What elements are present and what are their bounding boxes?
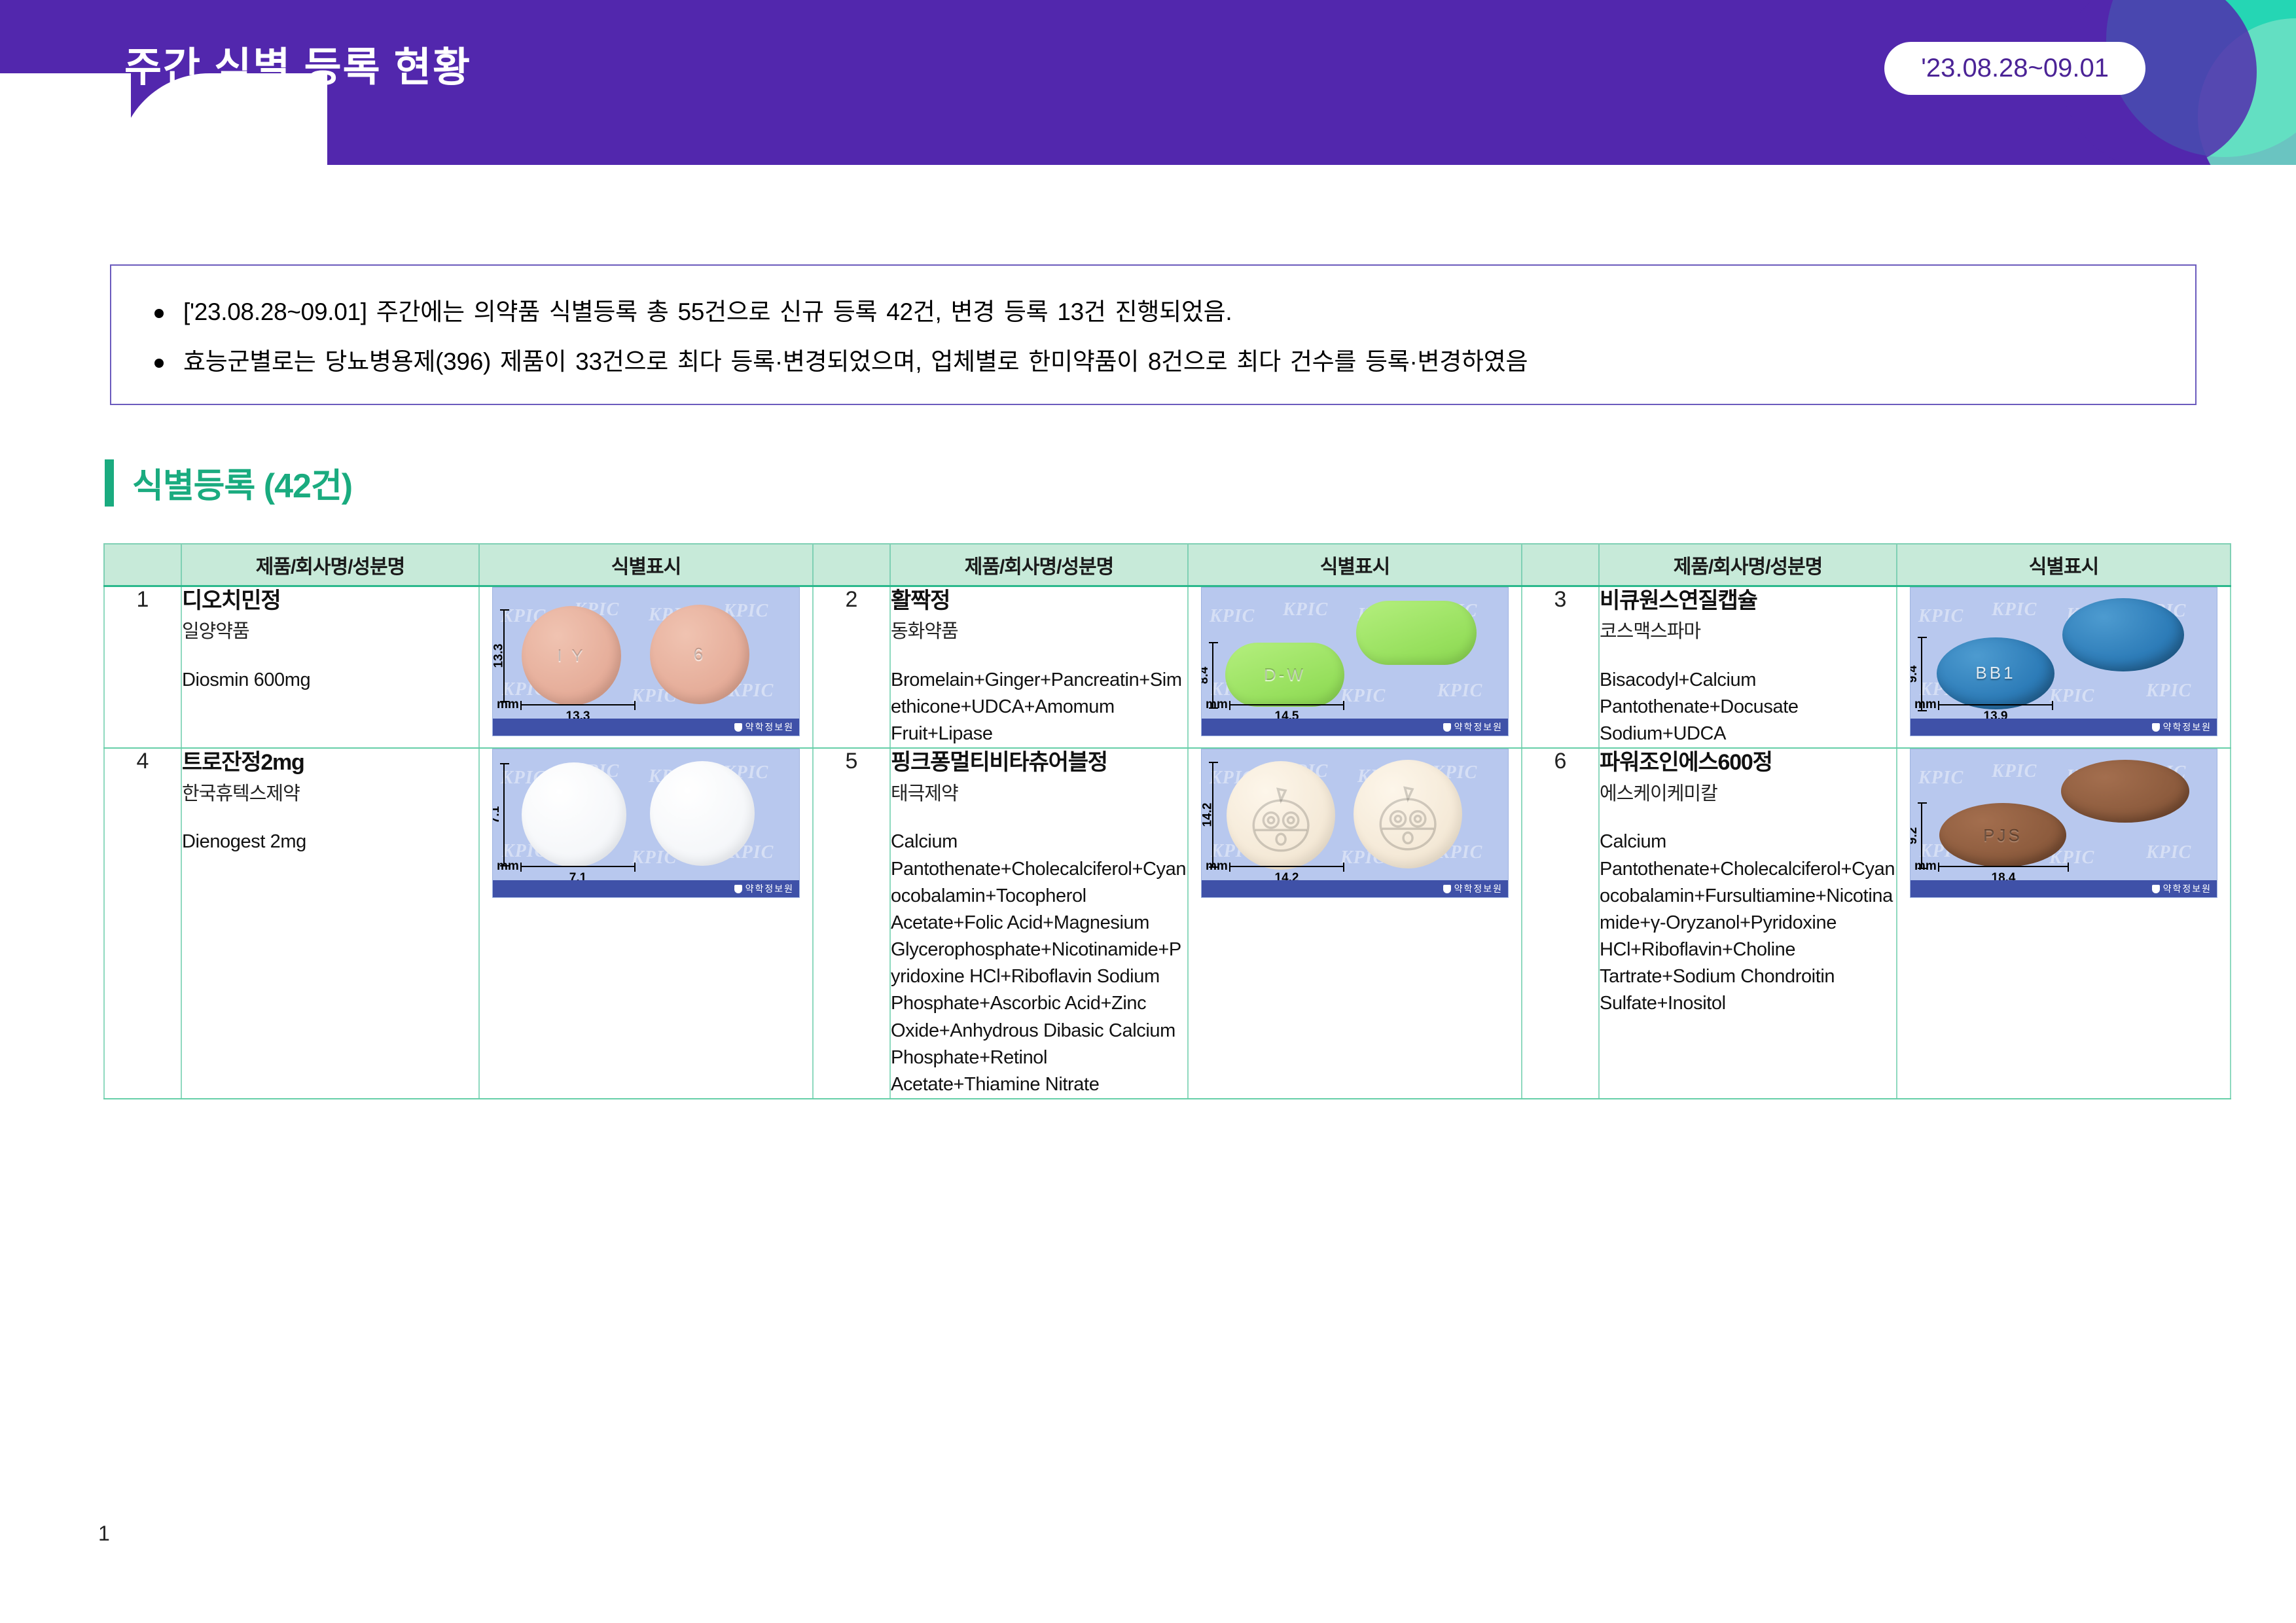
product-name: 디오치민정 <box>182 587 478 615</box>
section-accent-bar <box>105 459 114 507</box>
dimension-width: 18.4 <box>1938 866 2069 867</box>
pill-back <box>2061 760 2189 823</box>
watermark-text: KPIC <box>1992 599 2037 620</box>
table-header-row: 제품/회사명/성분명 식별표시 제품/회사명/성분명 식별표시 제품/회사명/성… <box>104 544 2231 586</box>
photo-source-footer: 약학정보원 <box>1202 880 1508 897</box>
pill-photo: KPIC KPIC KPIC KPIC KPIC KPIC KPIC BB1 <box>1910 587 2217 736</box>
pill-back: 6 <box>650 605 749 704</box>
pill-imprint: I Y <box>557 645 585 666</box>
pill-imprint: PJS <box>1983 825 2022 846</box>
photo-source-footer: 약학정보원 <box>1910 880 2217 897</box>
pill-back <box>2062 598 2184 671</box>
date-range-badge: '23.08.28~09.01 <box>1884 42 2145 95</box>
product-info-cell: 트로잔정2mg 한국휴텍스제약 Dienogest 2mg <box>181 748 479 1099</box>
photo-source: 약학정보원 <box>2163 883 2212 894</box>
row-number: 3 <box>1522 586 1599 748</box>
product-name: 활짝정 <box>891 587 1187 615</box>
summary-bullet-2: 효능군별로는 당뇨병용제(396) 제품이 33건으로 최다 등록·변경되었으며… <box>137 344 2169 380</box>
pill-front: PJS <box>1939 803 2066 867</box>
pill-image-cell: KPIC KPIC KPIC KPIC KPIC KPIC KPIC BB1 <box>1897 586 2231 748</box>
mm-unit-label: mm <box>1914 859 1937 874</box>
product-info-cell: 핑크퐁멀티비타츄어블정 태극제약 Calcium Pantothenate+Ch… <box>890 748 1188 1099</box>
pill-imprint: D-W <box>1264 664 1306 685</box>
company-name: 동화약품 <box>891 620 1187 645</box>
photo-source: 약학정보원 <box>1454 722 1503 732</box>
photo-source: 약학정보원 <box>1454 883 1503 894</box>
page-number: 1 <box>98 1522 110 1546</box>
mm-unit-label: mm <box>1206 698 1228 712</box>
shield-icon <box>1443 723 1451 732</box>
photo-source-footer: 약학정보원 <box>493 880 799 897</box>
pill-front <box>522 762 626 867</box>
dimension-width: 13.9 <box>1938 704 2053 705</box>
watermark-text: KPIC <box>1918 768 1964 789</box>
product-info-cell: 활짝정 동화약품 Bromelain+Ginger+Pancreatin+Sim… <box>890 586 1188 748</box>
watermark-text: KPIC <box>2049 686 2094 707</box>
pill-front: D-W <box>1225 643 1344 707</box>
pill-imprint-back: 6 <box>694 644 706 664</box>
watermark-text: KPIC <box>1210 606 1255 627</box>
photo-source: 약학정보원 <box>745 722 794 732</box>
mm-unit-label: mm <box>497 698 519 712</box>
header-corner-block <box>0 73 131 165</box>
section-title: 식별등록 (42건) <box>132 458 352 507</box>
header-info-1: 제품/회사명/성분명 <box>181 544 479 586</box>
product-name: 핑크퐁멀티비타츄어블정 <box>891 749 1187 777</box>
summary-bullet-text-1: ['23.08.28~09.01] 주간에는 의약품 식별등록 총 55건으로 … <box>183 294 1232 330</box>
watermark-text: KPIC <box>2146 842 2191 863</box>
table-row: 1 디오치민정 일양약품 Diosmin 600mg KPIC KPIC KPI… <box>104 586 2231 748</box>
dimension-width: 14.5 <box>1229 704 1344 705</box>
product-info-cell: 파워조인에스600정 에스케이케미칼 Calcium Pantothenate+… <box>1599 748 1897 1099</box>
header-blank-1 <box>104 544 181 586</box>
pill-imprint: BB1 <box>1975 663 2015 683</box>
photo-source: 약학정보원 <box>745 883 794 894</box>
pill-image-cell: KPIC KPIC KPIC KPIC KPIC KPIC KPIC PJS <box>1897 748 2231 1099</box>
watermark-text: KPIC <box>1437 681 1482 702</box>
ingredient-name: Diosmin 600mg <box>182 667 478 694</box>
photo-source-footer: 약학정보원 <box>493 719 799 736</box>
watermark-text: KPIC <box>1992 761 2037 782</box>
pill-photo: KPIC KPIC KPIC KPIC KPIC KPIC KPIC PJS <box>1910 749 2217 898</box>
section-header: 식별등록 (42건) <box>105 458 352 507</box>
page-header: 주간 식별 등록 현황 '23.08.28~09.01 <box>0 0 2296 165</box>
ingredient-name: Bisacodyl+Calcium Pantothenate+Docusate … <box>1600 667 1896 748</box>
photo-source-footer: 약학정보원 <box>1910 719 2217 736</box>
product-name: 비큐원스연질캡슐 <box>1600 587 1896 615</box>
shield-icon <box>734 885 742 893</box>
dimension-height: 13.3 <box>503 610 505 702</box>
table-body: 1 디오치민정 일양약품 Diosmin 600mg KPIC KPIC KPI… <box>104 586 2231 1099</box>
company-name: 한국휴텍스제약 <box>182 782 478 807</box>
row-number: 6 <box>1522 748 1599 1099</box>
row-number: 1 <box>104 586 181 748</box>
header-info-3: 제품/회사명/성분명 <box>1599 544 1897 586</box>
shield-icon <box>734 723 742 732</box>
pill-photo: KPIC KPIC KPIC KPIC KPIC KPIC KPIC <box>492 749 800 898</box>
character-face-icon <box>1370 786 1446 853</box>
bullet-dot-icon <box>154 359 164 368</box>
pill-back <box>650 761 755 866</box>
company-name: 태극제약 <box>891 782 1187 807</box>
pill-photo: KPIC KPIC KPIC KPIC KPIC KPIC KPIC <box>1201 749 1509 898</box>
shield-icon <box>2152 885 2160 893</box>
pill-front: I Y <box>522 606 621 705</box>
product-name: 트로잔정2mg <box>182 749 478 777</box>
header-blank-2 <box>813 544 890 586</box>
dimension-width: 7.1 <box>520 866 636 867</box>
row-number: 5 <box>813 748 890 1099</box>
page-title: 주간 식별 등록 현황 <box>124 34 471 93</box>
pill-image-cell: KPIC KPIC KPIC KPIC KPIC KPIC KPIC I Y 6 <box>479 586 813 748</box>
watermark-text: KPIC <box>1283 599 1328 620</box>
pill-photo: KPIC KPIC KPIC KPIC KPIC KPIC KPIC I Y 6 <box>492 587 800 736</box>
bullet-dot-icon <box>154 309 164 318</box>
shield-icon <box>1443 885 1451 893</box>
header-blank-3 <box>1522 544 1599 586</box>
dimension-height: 9.2 <box>1921 803 1922 868</box>
pill-image-cell: KPIC KPIC KPIC KPIC KPIC KPIC KPIC <box>1188 748 1522 1099</box>
pill-image-cell: KPIC KPIC KPIC KPIC KPIC KPIC KPIC <box>479 748 813 1099</box>
pill-front <box>1227 761 1335 870</box>
photo-source-footer: 약학정보원 <box>1202 719 1508 736</box>
table-row: 4 트로잔정2mg 한국휴텍스제약 Dienogest 2mg KPIC KPI… <box>104 748 2231 1099</box>
pill-image-cell: KPIC KPIC KPIC KPIC KPIC KPIC KPIC D-W <box>1188 586 1522 748</box>
character-face-icon <box>1243 787 1319 855</box>
watermark-text: KPIC <box>2146 681 2191 702</box>
ingredient-name: Calcium Pantothenate+Cholecalciferol+Cya… <box>891 829 1187 1098</box>
company-name: 코스맥스파마 <box>1600 620 1896 645</box>
company-name: 일양약품 <box>182 620 478 645</box>
watermark-text: KPIC <box>1340 686 1386 707</box>
mm-unit-label: mm <box>497 859 519 874</box>
ingredient-name: Calcium Pantothenate+Cholecalciferol+Cya… <box>1600 829 1896 1017</box>
header-image-1: 식별표시 <box>479 544 813 586</box>
summary-box: ['23.08.28~09.01] 주간에는 의약품 식별등록 총 55건으로 … <box>110 264 2197 405</box>
header-image-3: 식별표시 <box>1897 544 2231 586</box>
dimension-width: 14.2 <box>1229 866 1344 867</box>
header-info-2: 제품/회사명/성분명 <box>890 544 1188 586</box>
product-name: 파워조인에스600정 <box>1600 749 1896 777</box>
row-number: 4 <box>104 748 181 1099</box>
mm-unit-label: mm <box>1206 859 1228 874</box>
dimension-height: 7.1 <box>503 764 505 866</box>
ingredient-name: Bromelain+Ginger+Pancreatin+Simethicone+… <box>891 667 1187 748</box>
pill-back <box>1354 760 1462 868</box>
company-name: 에스케이케미칼 <box>1600 782 1896 807</box>
watermark-text: KPIC <box>1918 606 1964 627</box>
photo-source: 약학정보원 <box>2163 722 2212 732</box>
product-info-cell: 디오치민정 일양약품 Diosmin 600mg <box>181 586 479 748</box>
product-info-cell: 비큐원스연질캡슐 코스맥스파마 Bisacodyl+Calcium Pantot… <box>1599 586 1897 748</box>
registration-table-wrapper: 제품/회사명/성분명 식별표시 제품/회사명/성분명 식별표시 제품/회사명/성… <box>103 543 2229 1099</box>
registration-table: 제품/회사명/성분명 식별표시 제품/회사명/성분명 식별표시 제품/회사명/성… <box>103 543 2231 1099</box>
pill-front: BB1 <box>1937 637 2054 709</box>
dimension-height: 14.2 <box>1212 762 1213 867</box>
mm-unit-label: mm <box>1914 698 1937 712</box>
header-image-2: 식별표시 <box>1188 544 1522 586</box>
table-head: 제품/회사명/성분명 식별표시 제품/회사명/성분명 식별표시 제품/회사명/성… <box>104 544 2231 586</box>
shield-icon <box>2152 723 2160 732</box>
dimension-width: 13.3 <box>520 704 636 705</box>
summary-bullet-text-2: 효능군별로는 당뇨병용제(396) 제품이 33건으로 최다 등록·변경되었으며… <box>183 344 1528 380</box>
summary-bullet-1: ['23.08.28~09.01] 주간에는 의약품 식별등록 총 55건으로 … <box>137 294 2169 330</box>
row-number: 2 <box>813 586 890 748</box>
pill-photo: KPIC KPIC KPIC KPIC KPIC KPIC KPIC D-W <box>1201 587 1509 736</box>
pill-back <box>1356 601 1477 665</box>
ingredient-name: Dienogest 2mg <box>182 829 478 855</box>
